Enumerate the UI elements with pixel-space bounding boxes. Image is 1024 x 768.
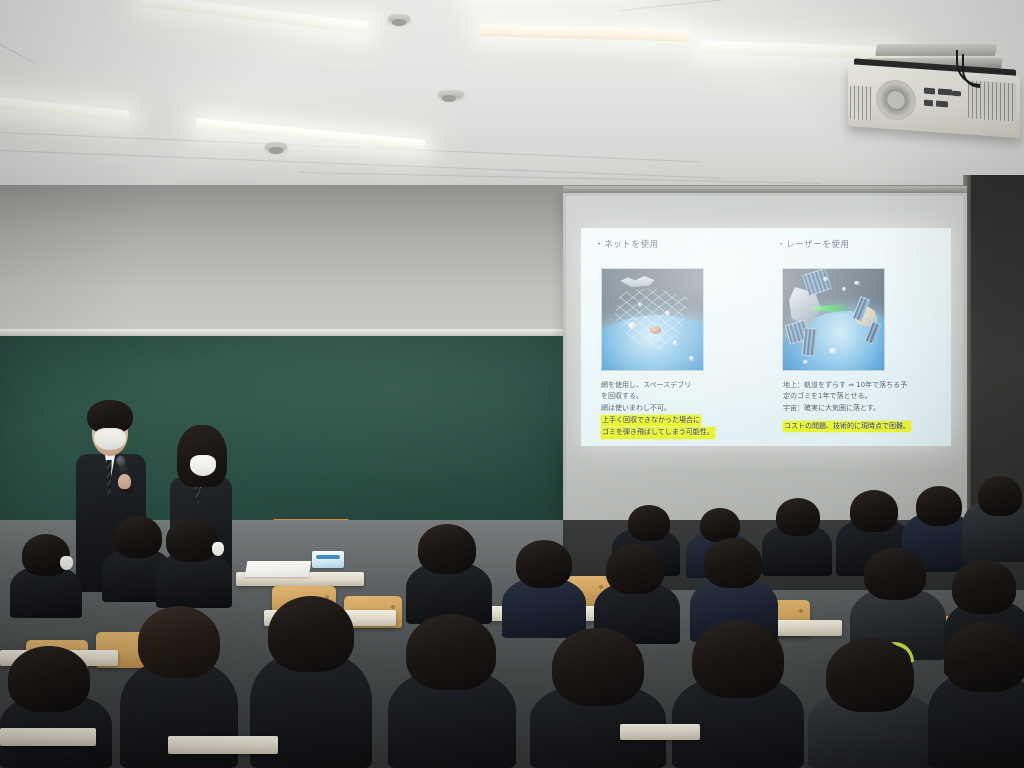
projector-port — [924, 88, 935, 95]
slide-highlight-line: 上手く回収できなかった場合に — [601, 415, 701, 426]
audience-head — [704, 538, 762, 588]
projector-side-grille — [850, 85, 872, 121]
audience-head — [8, 646, 90, 712]
audience-head — [552, 628, 644, 706]
audience-head — [606, 544, 664, 594]
classroom-scene: ・ネットを使用 網を使用し、スペースデブリ を回収する。 網は使いまわし不可。 … — [0, 0, 1024, 768]
slide-heading-laser: ・レーザーを使用 — [777, 238, 947, 250]
projector-port — [936, 101, 948, 108]
slide-column-net: ・ネットを使用 網を使用し、スペースデブリ を回収する。 網は使いまわし不可。 … — [595, 238, 765, 250]
audience-head — [978, 476, 1022, 516]
slide-image-net — [601, 268, 704, 371]
presenter-face-mask — [190, 455, 216, 476]
audience-head — [944, 622, 1024, 692]
slide-highlight-line: ゴミを弾き飛ばしてしまう可能性。 — [601, 427, 715, 438]
slide-body-line: 網を使用し、スペースデブリ — [601, 380, 766, 391]
audience-head — [114, 516, 162, 558]
audience-head — [700, 508, 740, 542]
audience-head — [516, 540, 572, 588]
smoke-detector — [388, 14, 410, 23]
slide-image-laser — [782, 268, 885, 371]
audience-face-mask — [212, 542, 224, 556]
desk-papers — [245, 561, 312, 577]
slide-body-line: 網は使いまわし不可。 — [601, 403, 766, 414]
audience-head — [952, 560, 1016, 614]
audience-head — [776, 498, 820, 536]
audience-head — [268, 596, 354, 672]
audience-head — [138, 606, 220, 678]
slide-column-laser: ・レーザーを使用 地上：軌道をずらす ⇒ 10年で落ちる予 — [777, 238, 947, 250]
ceiling-light-tube — [480, 24, 690, 41]
audience-head — [692, 620, 784, 698]
audience-head — [850, 490, 898, 532]
slide-body-line: 定のゴミを1年で落とせる。 — [783, 391, 948, 402]
audience-head — [406, 614, 496, 690]
projected-slide: ・ネットを使用 網を使用し、スペースデブリ を回収する。 網は使いまわし不可。 … — [581, 228, 951, 446]
audience-head — [628, 505, 670, 541]
wall-trim — [0, 329, 565, 336]
slide-body-net: 網を使用し、スペースデブリ を回収する。 網は使いまわし不可。 上手く回収できな… — [601, 380, 766, 439]
desk — [0, 728, 96, 746]
audience-head — [826, 638, 914, 712]
presenter-face-mask — [94, 428, 126, 450]
tissue-box — [312, 551, 344, 568]
slide-highlight-line: コストの問題、技術的に現時点で困難。 — [783, 421, 911, 432]
audience-head — [22, 534, 70, 576]
desk — [168, 736, 278, 754]
smoke-detector — [265, 142, 287, 151]
slide-body-line: を回収する。 — [601, 391, 766, 402]
projector-port — [938, 89, 952, 96]
presenter-hand — [118, 474, 131, 489]
ceiling-speaker — [438, 90, 464, 98]
audience-head — [418, 524, 476, 574]
audience-head — [916, 486, 962, 526]
projector-port — [924, 100, 933, 107]
audience-face-mask — [60, 556, 73, 570]
slide-body-laser: 地上：軌道をずらす ⇒ 10年で落ちる予 定のゴミを1年で落とせる。 宇宙：確実… — [783, 380, 948, 432]
slide-body-line: 地上：軌道をずらす ⇒ 10年で落ちる予 — [783, 380, 948, 391]
audience-head — [864, 548, 926, 600]
slide-body-line: 宇宙：確実に大気圏に落とす。 — [783, 403, 948, 414]
audience-head — [166, 518, 218, 562]
projector-port — [952, 91, 961, 97]
projector — [848, 44, 1024, 154]
ceiling-light-tube — [0, 94, 130, 122]
slide-heading-net: ・ネットを使用 — [595, 238, 765, 250]
desk — [620, 724, 700, 740]
ceiling-light-tube — [139, 0, 369, 34]
